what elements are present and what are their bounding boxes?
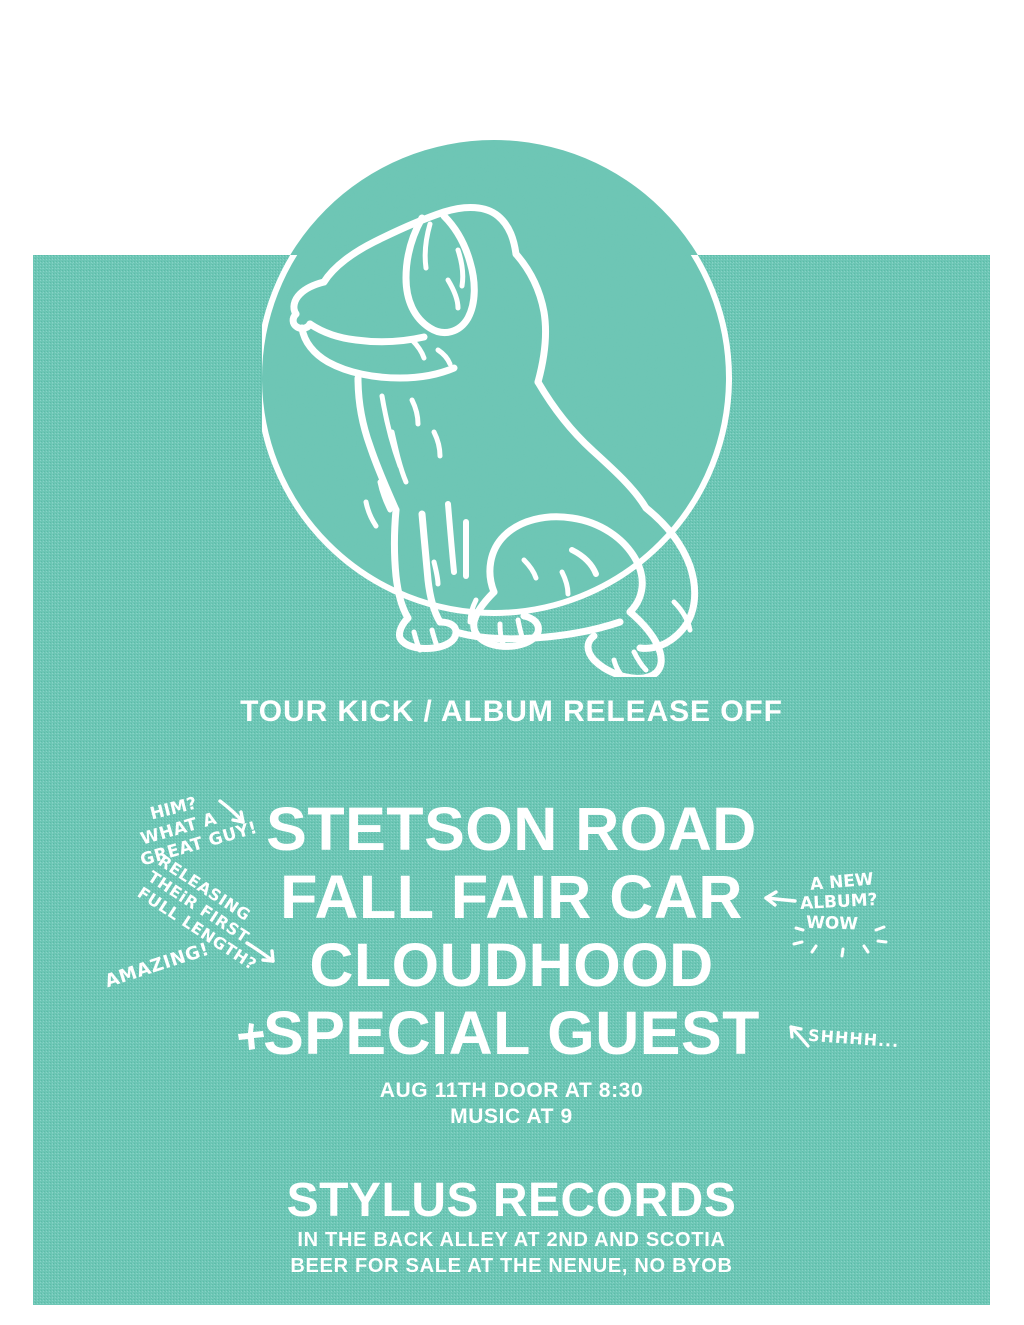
annotation-him-arrow-icon: [216, 797, 250, 831]
annotation-album-line2: ALBUM?: [800, 890, 878, 914]
event-date-line: AUG 11TH DOOR AT 8:30: [33, 1078, 990, 1104]
venue-note: BEER FOR SALE AT THE NENUE, NO BYOB: [33, 1253, 990, 1279]
event-datetime: AUG 11TH DOOR AT 8:30 MUSIC AT 9: [33, 1078, 990, 1130]
venue-name: STYLUS RECORDS: [33, 1175, 990, 1227]
venue-address: IN THE BACK ALLEY AT 2ND AND SCOTIA: [33, 1227, 990, 1253]
venue-block: STYLUS RECORDS IN THE BACK ALLEY AT 2ND …: [33, 1175, 990, 1279]
annotation-album-arrow-icon: [762, 888, 798, 912]
poster-canvas: TOUR KICK / ALBUM RELEASE OFF STETSON RO…: [0, 0, 1024, 1325]
event-music-line: MUSIC AT 9: [33, 1104, 990, 1130]
annotation-wow-sparkle-icon: [790, 916, 910, 965]
poster-kicker: TOUR KICK / ALBUM RELEASE OFF: [33, 695, 990, 729]
poster-content: TOUR KICK / ALBUM RELEASE OFF STETSON RO…: [33, 255, 990, 1305]
annotation-releasing-arrow-icon: [244, 940, 278, 970]
annotation-shhh-arrow-icon: [787, 1024, 813, 1050]
plus-icon: [236, 1021, 266, 1053]
